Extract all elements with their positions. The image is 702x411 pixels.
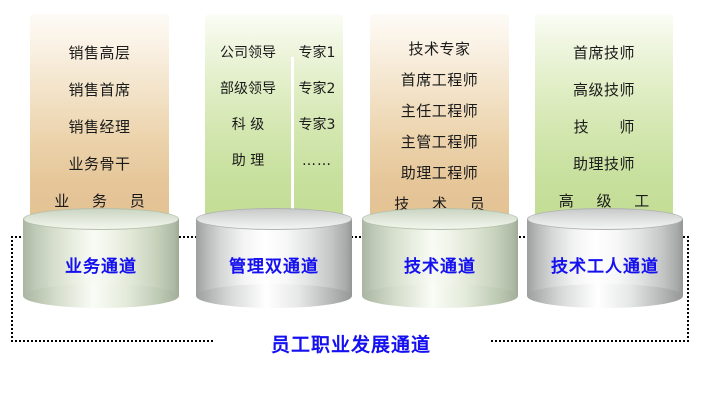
base-bottom-ellipse	[362, 284, 518, 308]
pillar-technical: 技术专家 首席工程师 主任工程师 主管工程师 助理工程师 技 术 员	[370, 14, 509, 216]
level-item: 公司领导	[205, 46, 291, 60]
base-label: 管理双通道	[196, 252, 352, 277]
level-item: 首席技师	[535, 46, 673, 61]
pillar-management: 公司领导 部级领导 科 级 助 理 专家1 专家2 专家3 ……	[205, 14, 343, 216]
level-item: 助 理	[205, 154, 291, 168]
base-top-ellipse	[527, 208, 683, 230]
pillar-management-right: 专家1 专家2 专家3 ……	[291, 14, 343, 216]
level-item: 科 级	[205, 118, 291, 132]
pillar-technical-worker: 首席技师 高级技师 技 师 助理技师 高 级 工	[535, 14, 673, 216]
base-bottom-ellipse	[196, 284, 352, 308]
level-item: 技术专家	[370, 42, 509, 57]
level-item: 业务骨干	[30, 157, 169, 172]
level-item: 专家2	[291, 82, 343, 96]
base-label: 技术通道	[362, 252, 518, 277]
pillar-business: 销售高层 销售首席 销售经理 业务骨干 业 务 员	[30, 14, 169, 216]
level-item: 销售首席	[30, 83, 169, 98]
level-item: 助理工程师	[370, 166, 509, 181]
level-item: 部级领导	[205, 82, 291, 96]
level-item: 高级技师	[535, 83, 673, 98]
level-item: 业 务 员	[30, 194, 169, 209]
base-bottom-ellipse	[527, 284, 683, 308]
level-item: 专家3	[291, 118, 343, 132]
base-bottom-ellipse	[23, 284, 179, 308]
level-item: 技 师	[535, 120, 673, 135]
base-technical[interactable]: 技术通道	[362, 208, 518, 308]
base-management[interactable]: 管理双通道	[196, 208, 352, 308]
base-technical-worker[interactable]: 技术工人通道	[527, 208, 683, 308]
level-item: 助理技师	[535, 157, 673, 172]
base-business[interactable]: 业务通道	[23, 208, 179, 308]
pillar-management-left: 公司领导 部级领导 科 级 助 理	[205, 14, 291, 216]
level-item: 主任工程师	[370, 104, 509, 119]
level-item: 销售高层	[30, 46, 169, 61]
career-path-diagram: 销售高层 销售首席 销售经理 业务骨干 业 务 员 公司领导 部级领导 科 级 …	[0, 0, 702, 411]
level-item: 主管工程师	[370, 135, 509, 150]
diagram-caption: 员工职业发展通道	[0, 330, 702, 357]
level-item: 专家1	[291, 46, 343, 60]
level-item: ……	[291, 154, 343, 168]
base-label: 业务通道	[23, 252, 179, 277]
base-top-ellipse	[196, 208, 352, 230]
base-top-ellipse	[362, 208, 518, 230]
level-item: 首席工程师	[370, 73, 509, 88]
base-label: 技术工人通道	[527, 252, 683, 277]
level-item: 销售经理	[30, 120, 169, 135]
level-item: 高 级 工	[535, 194, 673, 209]
base-top-ellipse	[23, 208, 179, 230]
management-divider	[291, 57, 294, 216]
